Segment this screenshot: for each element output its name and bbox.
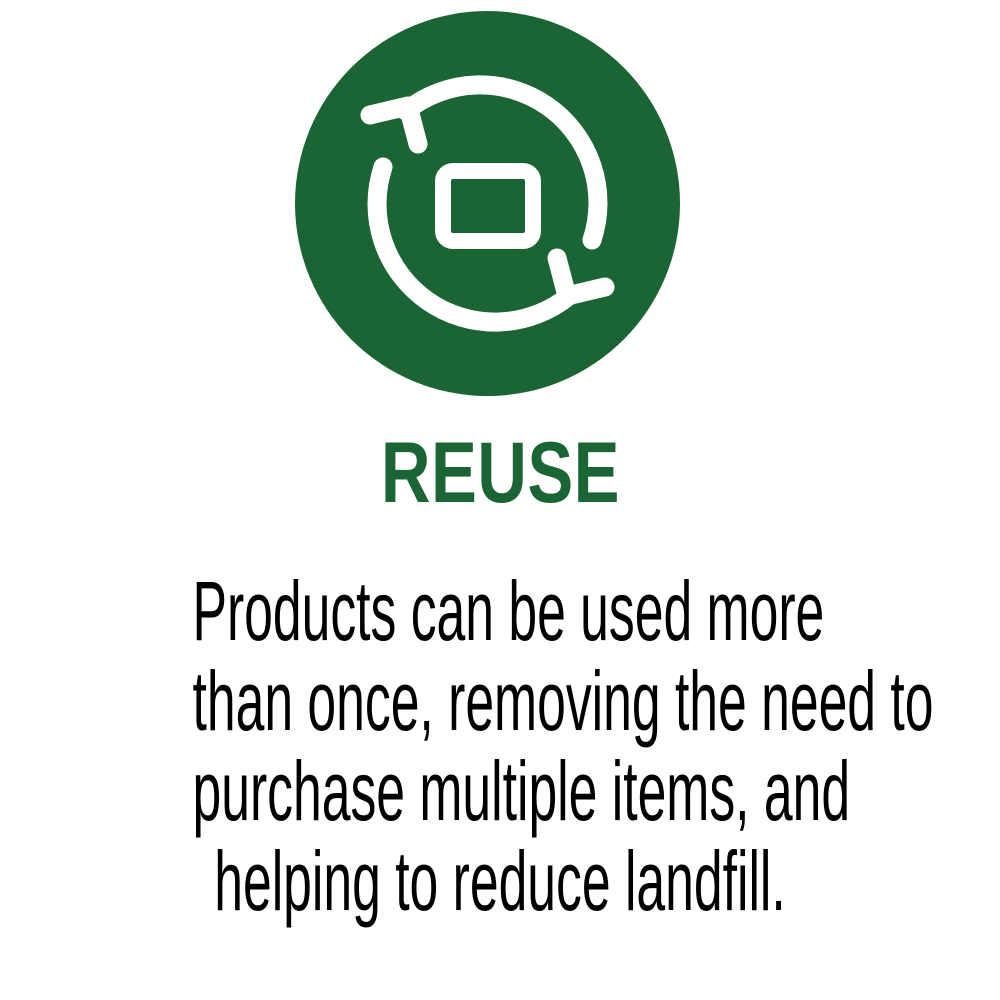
page-title: REUSE (380, 430, 619, 516)
heading-container: REUSE (0, 430, 1000, 516)
body-line: purchase multiple items, and (193, 746, 808, 836)
body-copy-container: Products can be used more than once, rem… (0, 566, 1000, 926)
body-line: Products can be used more (193, 566, 808, 656)
reuse-cycle-icon (295, 11, 680, 396)
body-line: helping to reduce landfill. (193, 836, 808, 926)
reuse-infographic-card: REUSE Products can be used more than onc… (0, 0, 1000, 1000)
body-line: than once, removing the need to (193, 656, 808, 746)
reuse-icon-badge (295, 11, 680, 396)
badge-circle (295, 11, 680, 396)
